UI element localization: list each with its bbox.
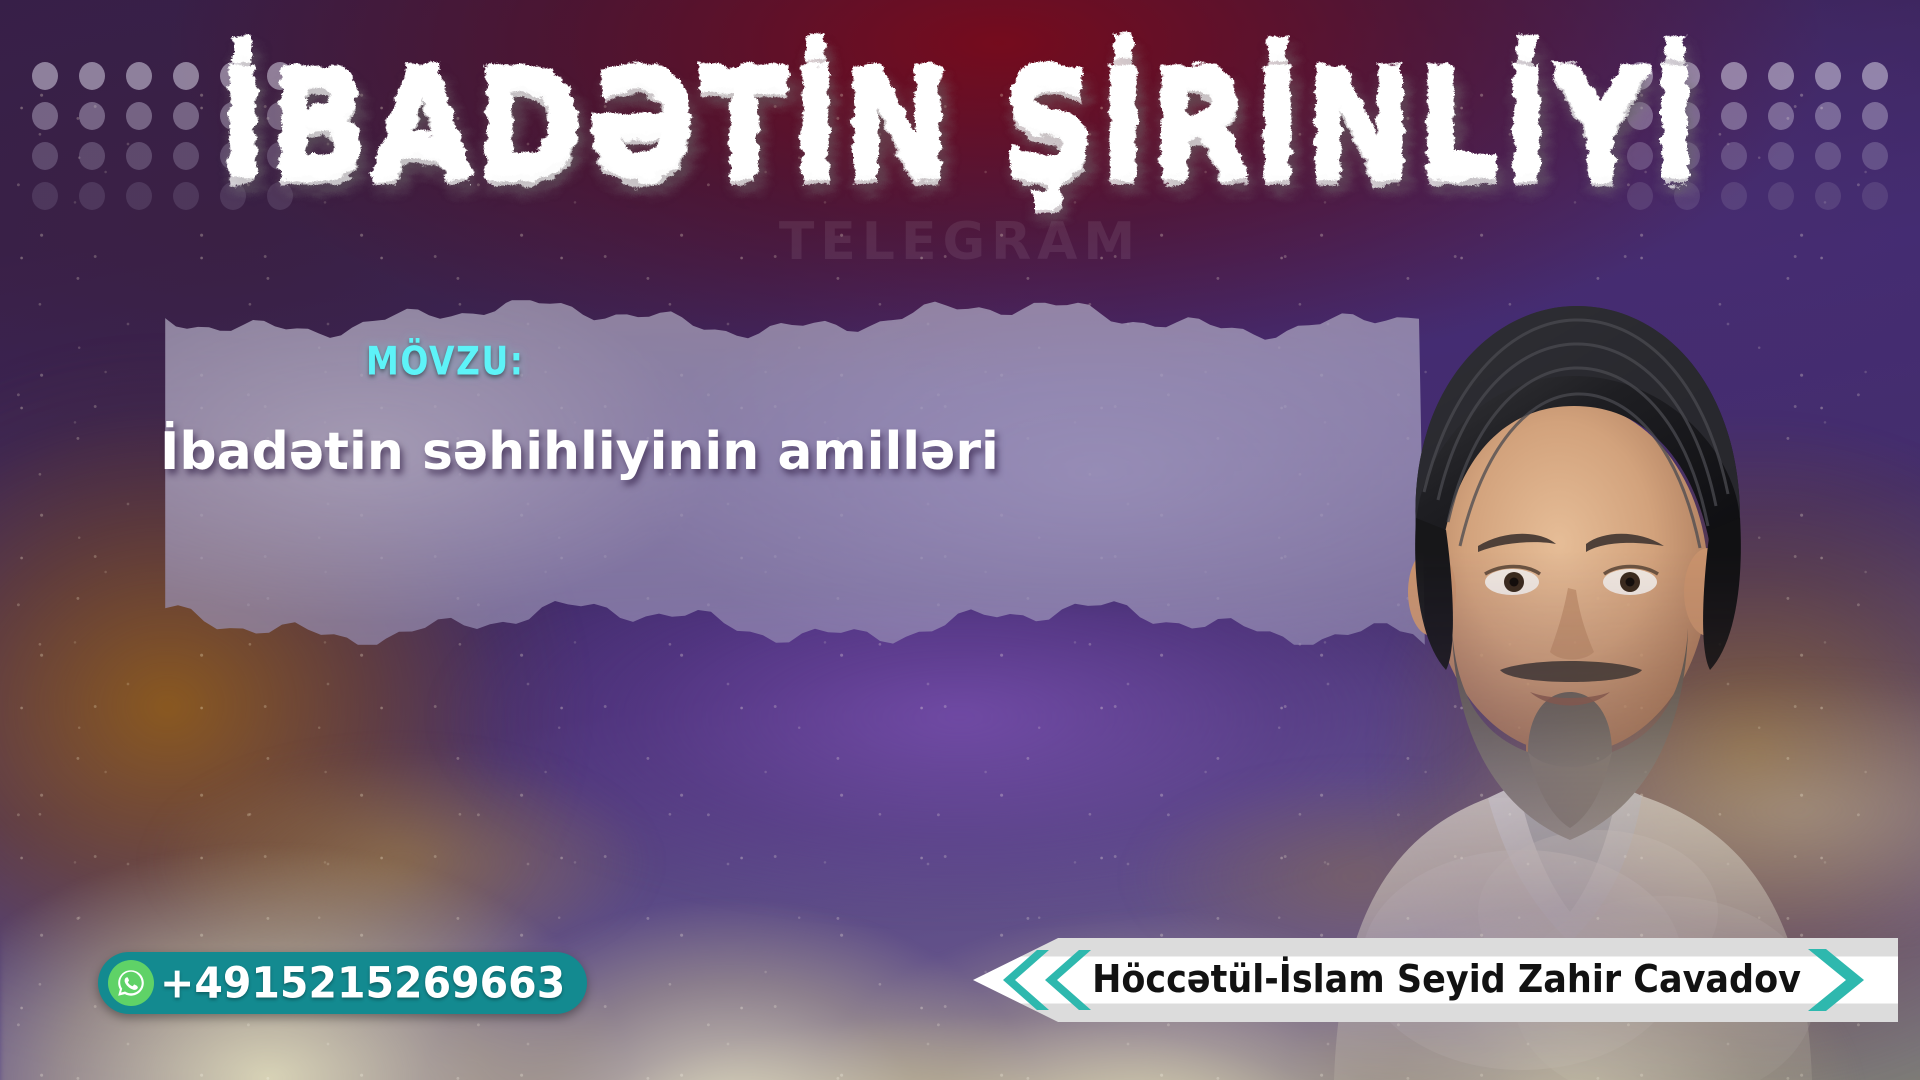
speaker-name: Höccətül-İslam Seyid Zahir Cavadov bbox=[1105, 934, 1788, 1026]
topic-headline: İbadətin səhihliyinin amilləri bbox=[160, 422, 999, 482]
title-block: İBADƏTİN ŞİRİNLİYİ bbox=[0, 48, 1920, 177]
poster-canvas: İBADƏTİN ŞİRİNLİYİ TELEGRAM MÖVZU: İbadə… bbox=[0, 0, 1920, 1080]
whatsapp-icon bbox=[108, 960, 154, 1006]
page-title: İBADƏTİN ŞİRİNLİYİ bbox=[218, 48, 1702, 200]
topic-label: MÖVZU: bbox=[366, 338, 524, 384]
whatsapp-phone-number: +4915215269663 bbox=[160, 958, 565, 1008]
watermark-text: TELEGRAM bbox=[779, 212, 1141, 272]
chevron-right-icon bbox=[1800, 946, 1884, 1014]
speaker-name-banner: Höccətül-İslam Seyid Zahir Cavadov bbox=[973, 938, 1898, 1022]
whatsapp-contact-badge[interactable]: +4915215269663 bbox=[98, 952, 587, 1014]
